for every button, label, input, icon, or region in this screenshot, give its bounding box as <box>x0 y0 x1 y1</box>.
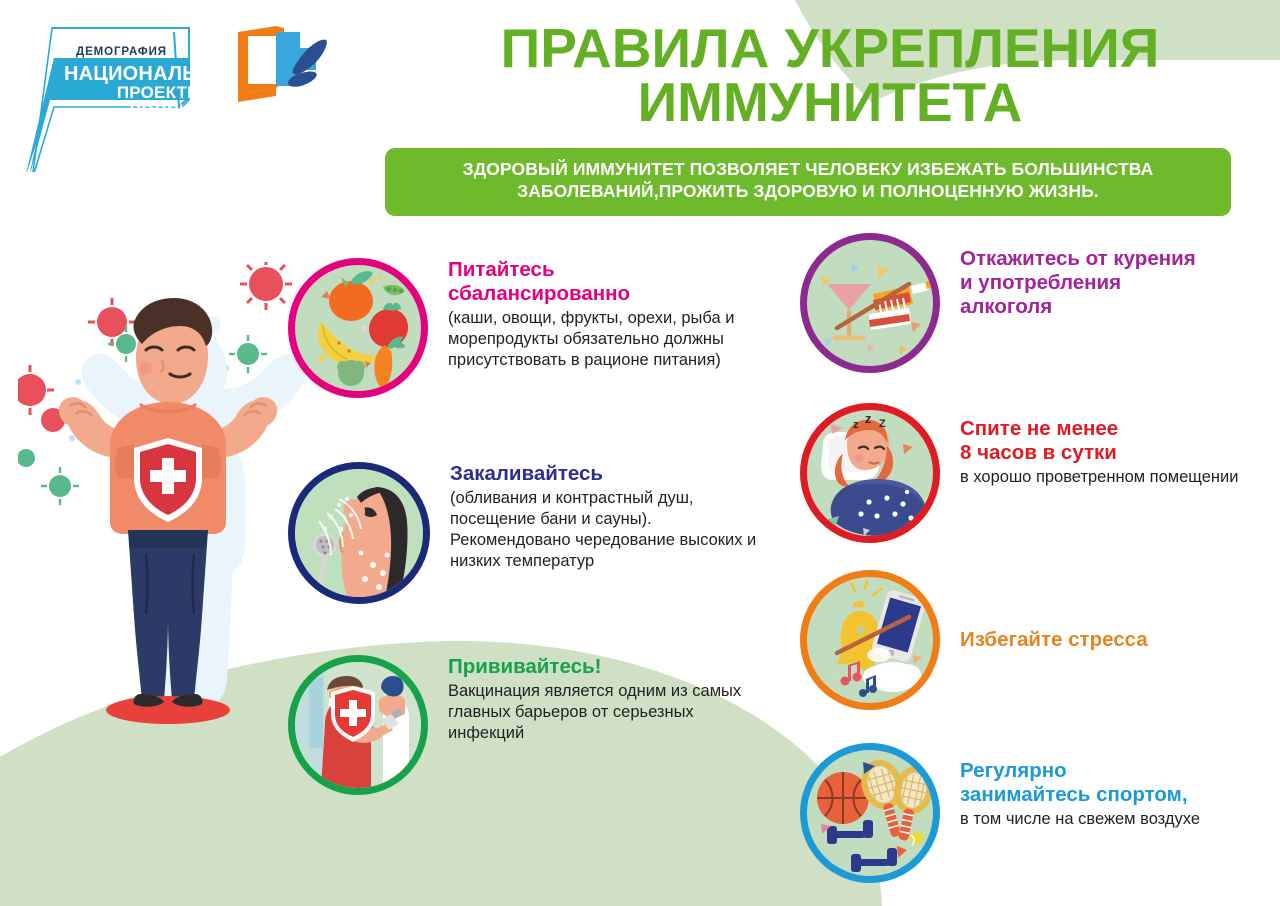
tip-smoking-title-line3: алкоголя <box>960 295 1196 319</box>
no-smoking-no-alcohol-circle-icon <box>800 233 940 373</box>
tip-hardening: Закаливайтесь (обливания и контрастный д… <box>288 462 768 604</box>
tip-stress: Избегайте стресса <box>800 570 1270 710</box>
sport-icon-art <box>807 750 933 876</box>
logo-line-3: РОССИИ <box>64 102 204 119</box>
contrast-shower-circle-icon <box>288 462 430 604</box>
tip-vaccination-title: Прививайтесь! <box>448 655 768 679</box>
vaccination-icon-art <box>295 662 421 788</box>
tip-sleep-text: Спите не менее 8 часов в сутки в хорошо … <box>960 403 1238 488</box>
tip-sport-body: в том числе на свежем воздухе <box>960 809 1200 830</box>
logo-line-2: ПРОЕКТЫ <box>64 84 204 101</box>
vaccination-circle-icon <box>288 655 428 795</box>
tip-sport-text: Регулярно занимайтесь спортом, в том чис… <box>960 743 1200 830</box>
svg-text:z: z <box>865 411 872 426</box>
tip-stress-text: Избегайте стресса <box>960 628 1148 652</box>
avoid-stress-circle-icon <box>800 570 940 710</box>
tip-hardening-title: Закаливайтесь <box>450 462 768 486</box>
tip-nutrition-title-line1: Питайтесь <box>448 258 768 282</box>
stress-icon-art <box>807 577 933 703</box>
tip-sport-title-line1: Регулярно <box>960 759 1200 783</box>
health-book-cross-emblem <box>232 22 330 114</box>
healthy-food-circle-icon <box>288 258 428 398</box>
tip-nutrition-title: Питайтесь сбалансированно <box>448 258 768 306</box>
svg-text:Z: Z <box>879 418 886 430</box>
sports-equipment-circle-icon <box>800 743 940 883</box>
strong-man-immunity-mascot <box>18 262 318 762</box>
subtitle-banner: ЗДОРОВЫЙ ИММУНИТЕТ ПОЗВОЛЯЕТ ЧЕЛОВЕКУ ИЗ… <box>385 148 1231 216</box>
sleeping-woman-circle-icon: z z Z <box>800 403 940 543</box>
banner-line-1: ЗДОРОВЫЙ ИММУНИТЕТ ПОЗВОЛЯЕТ ЧЕЛОВЕКУ ИЗ… <box>399 159 1217 181</box>
tip-no-smoking-alcohol-text: Откажитесь от курения и употребления алк… <box>960 233 1196 321</box>
tip-hardening-text: Закаливайтесь (обливания и контрастный д… <box>450 462 768 572</box>
banner-line-2: ЗАБОЛЕВАНИЙ,ПРОЖИТЬ ЗДОРОВУЮ И ПОЛНОЦЕНН… <box>399 181 1217 203</box>
shower-icon-art <box>295 469 423 597</box>
tip-sport: Регулярно занимайтесь спортом, в том чис… <box>800 743 1270 883</box>
tip-nutrition-title-line2: сбалансированно <box>448 282 768 306</box>
tip-sport-title-line2: занимайтесь спортом, <box>960 783 1200 807</box>
mascot-illustration <box>18 262 318 762</box>
infographic-poster: ДЕМОГРАФИЯ НАЦИОНАЛЬНЫЕ ПРОЕКТЫ РОССИИ П… <box>0 0 1280 906</box>
no-smoking-icon-art <box>807 240 933 366</box>
tip-smoking-title-line1: Откажитесь от курения <box>960 247 1196 271</box>
tip-stress-title: Избегайте стресса <box>960 628 1148 652</box>
tip-sleep: z z Z Спите не менее 8 часов в сутки в х… <box>800 403 1270 543</box>
tip-sport-title: Регулярно занимайтесь спортом, <box>960 759 1200 807</box>
tip-sleep-title-line2: 8 часов в сутки <box>960 441 1238 465</box>
title-line-2: ИММУНИТЕТА <box>400 76 1260 130</box>
svg-text:z: z <box>853 419 859 431</box>
sleep-icon-art: z z Z <box>807 410 933 536</box>
food-icon-art <box>295 265 421 391</box>
logo-program-label: ДЕМОГРАФИЯ <box>76 46 167 58</box>
logo-wordmark: НАЦИОНАЛЬНЫЕ ПРОЕКТЫ РОССИИ <box>64 64 204 119</box>
tip-sleep-body: в хорошо проветренном помещении <box>960 467 1238 488</box>
tip-sleep-title: Спите не менее 8 часов в сутки <box>960 417 1238 465</box>
logo-line-1: НАЦИОНАЛЬНЫЕ <box>64 64 204 84</box>
emblem-icon <box>232 22 330 114</box>
tip-nutrition: Питайтесь сбалансированно (каши, овощи, … <box>288 258 768 398</box>
tip-vaccination-body: Вакцинация является одним из самых главн… <box>448 681 768 744</box>
tip-no-smoking-alcohol: Откажитесь от курения и употребления алк… <box>800 233 1270 373</box>
national-projects-logo: ДЕМОГРАФИЯ НАЦИОНАЛЬНЫЕ ПРОЕКТЫ РОССИИ <box>14 12 244 172</box>
title-line-1: ПРАВИЛА УКРЕПЛЕНИЯ <box>501 17 1160 79</box>
tip-vaccination: Прививайтесь! Вакцинация является одним … <box>288 655 768 795</box>
tip-hardening-body: (обливания и контрастный душ, посещение … <box>450 488 768 572</box>
tip-no-smoking-alcohol-title: Откажитесь от курения и употребления алк… <box>960 247 1196 319</box>
tip-vaccination-text: Прививайтесь! Вакцинация является одним … <box>448 655 768 744</box>
tip-nutrition-body: (каши, овощи, фрукты, орехи, рыба и море… <box>448 308 768 371</box>
page-title: ПРАВИЛА УКРЕПЛЕНИЯ ИММУНИТЕТА <box>400 22 1260 130</box>
tip-sleep-title-line1: Спите не менее <box>960 417 1238 441</box>
tip-nutrition-text: Питайтесь сбалансированно (каши, овощи, … <box>448 258 768 371</box>
tip-smoking-title-line2: и употребления <box>960 271 1196 295</box>
